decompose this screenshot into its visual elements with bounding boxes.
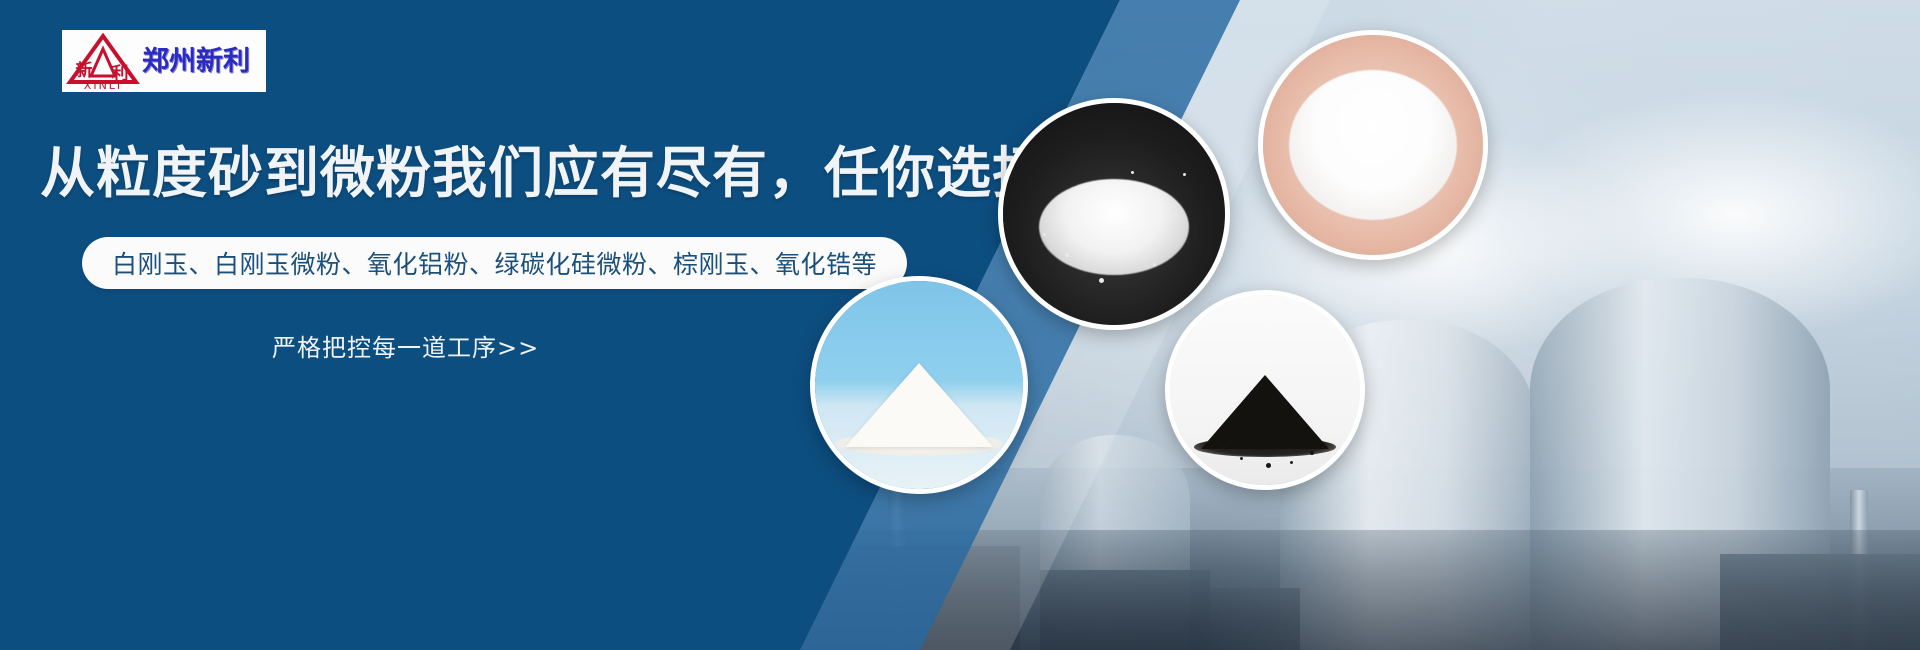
grain-speck xyxy=(1131,171,1134,174)
grain-speck xyxy=(1065,253,1069,257)
powder-cone xyxy=(845,363,993,447)
grain-speck xyxy=(1290,461,1293,464)
product-photo-inner xyxy=(1170,295,1360,485)
logo-company-name: 郑州新利 xyxy=(142,48,250,75)
promo-banner: 新 利 XINLI 郑州新利 从粒度砂到微粉我们应有尽有，任你选择 白刚玉、白刚… xyxy=(0,0,1920,650)
grain-speck xyxy=(1222,445,1226,449)
product-photo-black-grit[interactable] xyxy=(1165,290,1365,490)
product-list-text: 白刚玉、白刚玉微粉、氧化铝粉、绿碳化硅微粉、棕刚玉、氧化锆等 xyxy=(112,245,877,281)
headline: 从粒度砂到微粉我们应有尽有，任你选择 xyxy=(40,143,1048,204)
product-list-pill: 白刚玉、白刚玉微粉、氧化铝粉、绿碳化硅微粉、棕刚玉、氧化锆等 xyxy=(82,237,907,289)
grain-speck xyxy=(1099,278,1104,283)
abrasive-pile xyxy=(1039,179,1189,275)
svg-text:新: 新 xyxy=(76,60,93,81)
svg-text:XINLI: XINLI xyxy=(84,79,122,90)
grain-speck xyxy=(1153,263,1156,266)
grain-speck xyxy=(1240,457,1243,460)
powder-pile xyxy=(1289,70,1457,220)
product-photo-powder-cone[interactable] xyxy=(810,276,1028,494)
grain-speck xyxy=(1310,451,1314,455)
product-photo-inner xyxy=(1263,35,1483,255)
grain-speck xyxy=(1058,195,1061,198)
grain-speck xyxy=(1043,233,1046,236)
grain-speck xyxy=(1173,213,1177,217)
company-logo[interactable]: 新 利 XINLI 郑州新利 xyxy=(62,30,266,92)
grit-cone xyxy=(1201,375,1329,449)
cta-link[interactable]: 严格把控每一道工序>> xyxy=(272,328,539,363)
product-photo-inner xyxy=(1003,103,1225,325)
product-photo-inner xyxy=(815,281,1023,489)
grain-speck xyxy=(1183,173,1186,176)
xinli-triangle-icon: 新 利 XINLI xyxy=(66,32,140,90)
grain-speck xyxy=(1266,463,1271,468)
product-photo-white-powder[interactable] xyxy=(1258,30,1488,260)
